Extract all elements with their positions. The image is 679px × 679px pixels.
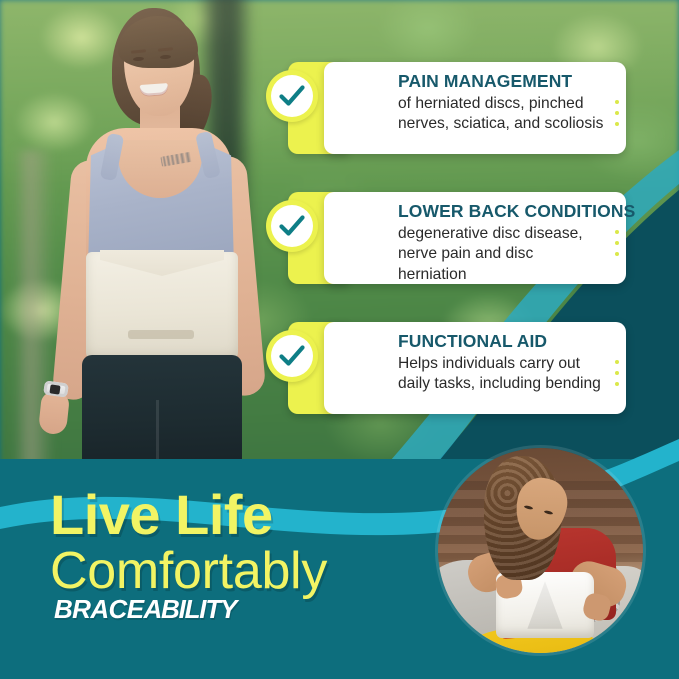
dot [615,100,619,104]
check-icon [279,85,305,107]
feature-card-pain-management[interactable]: PAIN MANAGEMENT of herniated discs, pinc… [266,62,626,154]
card-panel: PAIN MANAGEMENT of herniated discs, pinc… [324,62,626,154]
headline-line-2: Comfortably [50,545,327,598]
dot [615,111,619,115]
check-icon [279,215,305,237]
model-woman-wearing-brace [0,0,280,470]
headline-line-1: Live Life [50,488,327,543]
promo-graphic: PAIN MANAGEMENT of herniated discs, pinc… [0,0,679,679]
dot [615,122,619,126]
braceability-logo: BRACEABILITY [54,594,236,625]
check-icon [279,345,305,367]
card-title: PAIN MANAGEMENT [398,71,606,93]
lifestyle-circle-photo [438,448,643,653]
dot [615,360,619,364]
feature-card-lower-back-conditions[interactable]: LOWER BACK CONDITIONS degenerative disc … [266,192,626,284]
model-shorts-seam [156,400,159,470]
feature-card-functional-aid[interactable]: FUNCTIONAL AID Helps individuals carry o… [266,322,626,414]
card-body: Helps individuals carry out daily tasks,… [398,354,606,395]
dot [615,230,619,234]
model-hand [38,391,70,436]
feature-cards-list: PAIN MANAGEMENT of herniated discs, pinc… [266,0,679,470]
headline-block: Live Life Comfortably [50,488,327,598]
dot [615,371,619,375]
check-badge-inner [271,205,313,247]
back-brace-strap [128,330,194,339]
card-dots [615,100,619,126]
dot [615,382,619,386]
model-shorts [82,355,242,470]
card-title: LOWER BACK CONDITIONS [398,201,606,223]
check-badge-inner [271,335,313,377]
card-panel: LOWER BACK CONDITIONS degenerative disc … [324,192,626,284]
logo-ability-text: ABILITY [143,594,236,624]
check-badge [266,70,318,122]
check-badge [266,330,318,382]
check-badge-inner [271,75,313,117]
card-text-block: PAIN MANAGEMENT of herniated discs, pinc… [398,71,606,135]
card-body: of herniated discs, pinched nerves, scia… [398,94,606,135]
card-text-block: FUNCTIONAL AID Helps individuals carry o… [398,331,606,395]
card-dots [615,360,619,386]
card-title: FUNCTIONAL AID [398,331,606,353]
logo-brace-text: BRACE [54,594,143,624]
card-body: degenerative disc disease, nerve pain an… [398,224,606,286]
card-text-block: LOWER BACK CONDITIONS degenerative disc … [398,201,606,286]
card-dots [615,230,619,256]
dot [615,252,619,256]
model-watch-face [49,384,60,394]
card-panel: FUNCTIONAL AID Helps individuals carry o… [324,322,626,414]
check-badge [266,200,318,252]
dot [615,241,619,245]
